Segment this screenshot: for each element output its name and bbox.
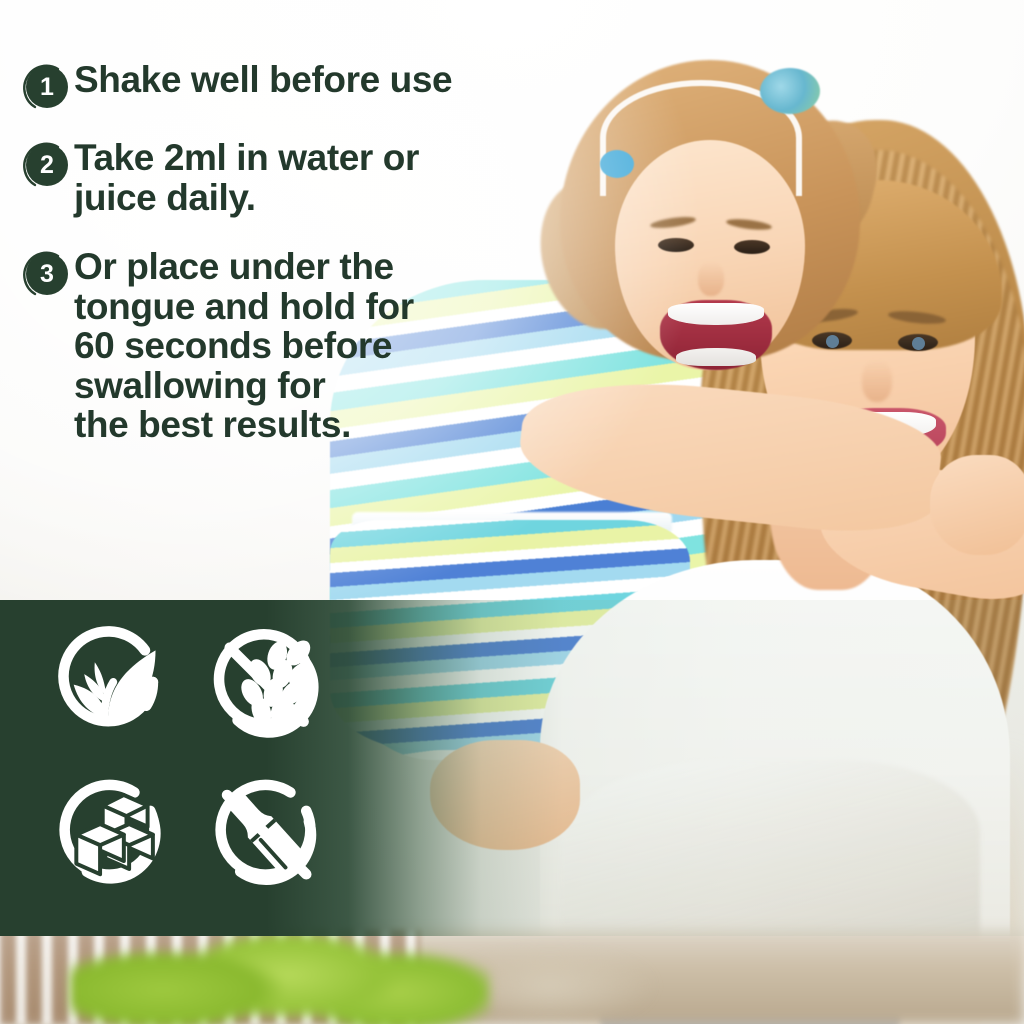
step-number-badge: 1 bbox=[18, 62, 74, 112]
step-text: Take 2ml in water or juice daily. bbox=[74, 138, 419, 217]
step-number-badge: 2 bbox=[18, 140, 74, 190]
step-text: Or place under the tongue and hold for 6… bbox=[74, 247, 414, 445]
alcohol-free-icon bbox=[198, 766, 330, 898]
certification-row bbox=[42, 616, 362, 748]
instruction-step: 1 Shake well before use bbox=[18, 60, 538, 112]
certification-icons bbox=[42, 616, 362, 916]
step-number-badge: 3 bbox=[18, 249, 74, 299]
instruction-step: 3 Or place under the tongue and hold for… bbox=[18, 247, 538, 445]
product-instruction-graphic: 1 Shake well before use 2 Take 2ml in wa… bbox=[0, 0, 1024, 1024]
step-text: Shake well before use bbox=[74, 60, 452, 100]
step-number: 3 bbox=[26, 253, 68, 295]
vegan-leaf-icon bbox=[42, 616, 174, 748]
instruction-step: 2 Take 2ml in water or juice daily. bbox=[18, 138, 538, 217]
gluten-free-icon bbox=[198, 616, 330, 748]
usage-instructions-list: 1 Shake well before use 2 Take 2ml in wa… bbox=[0, 0, 538, 471]
sugar-free-icon bbox=[42, 766, 174, 898]
certification-row bbox=[42, 766, 362, 898]
step-number: 1 bbox=[26, 66, 68, 108]
background-plant bbox=[70, 930, 490, 1024]
step-number: 2 bbox=[26, 144, 68, 186]
